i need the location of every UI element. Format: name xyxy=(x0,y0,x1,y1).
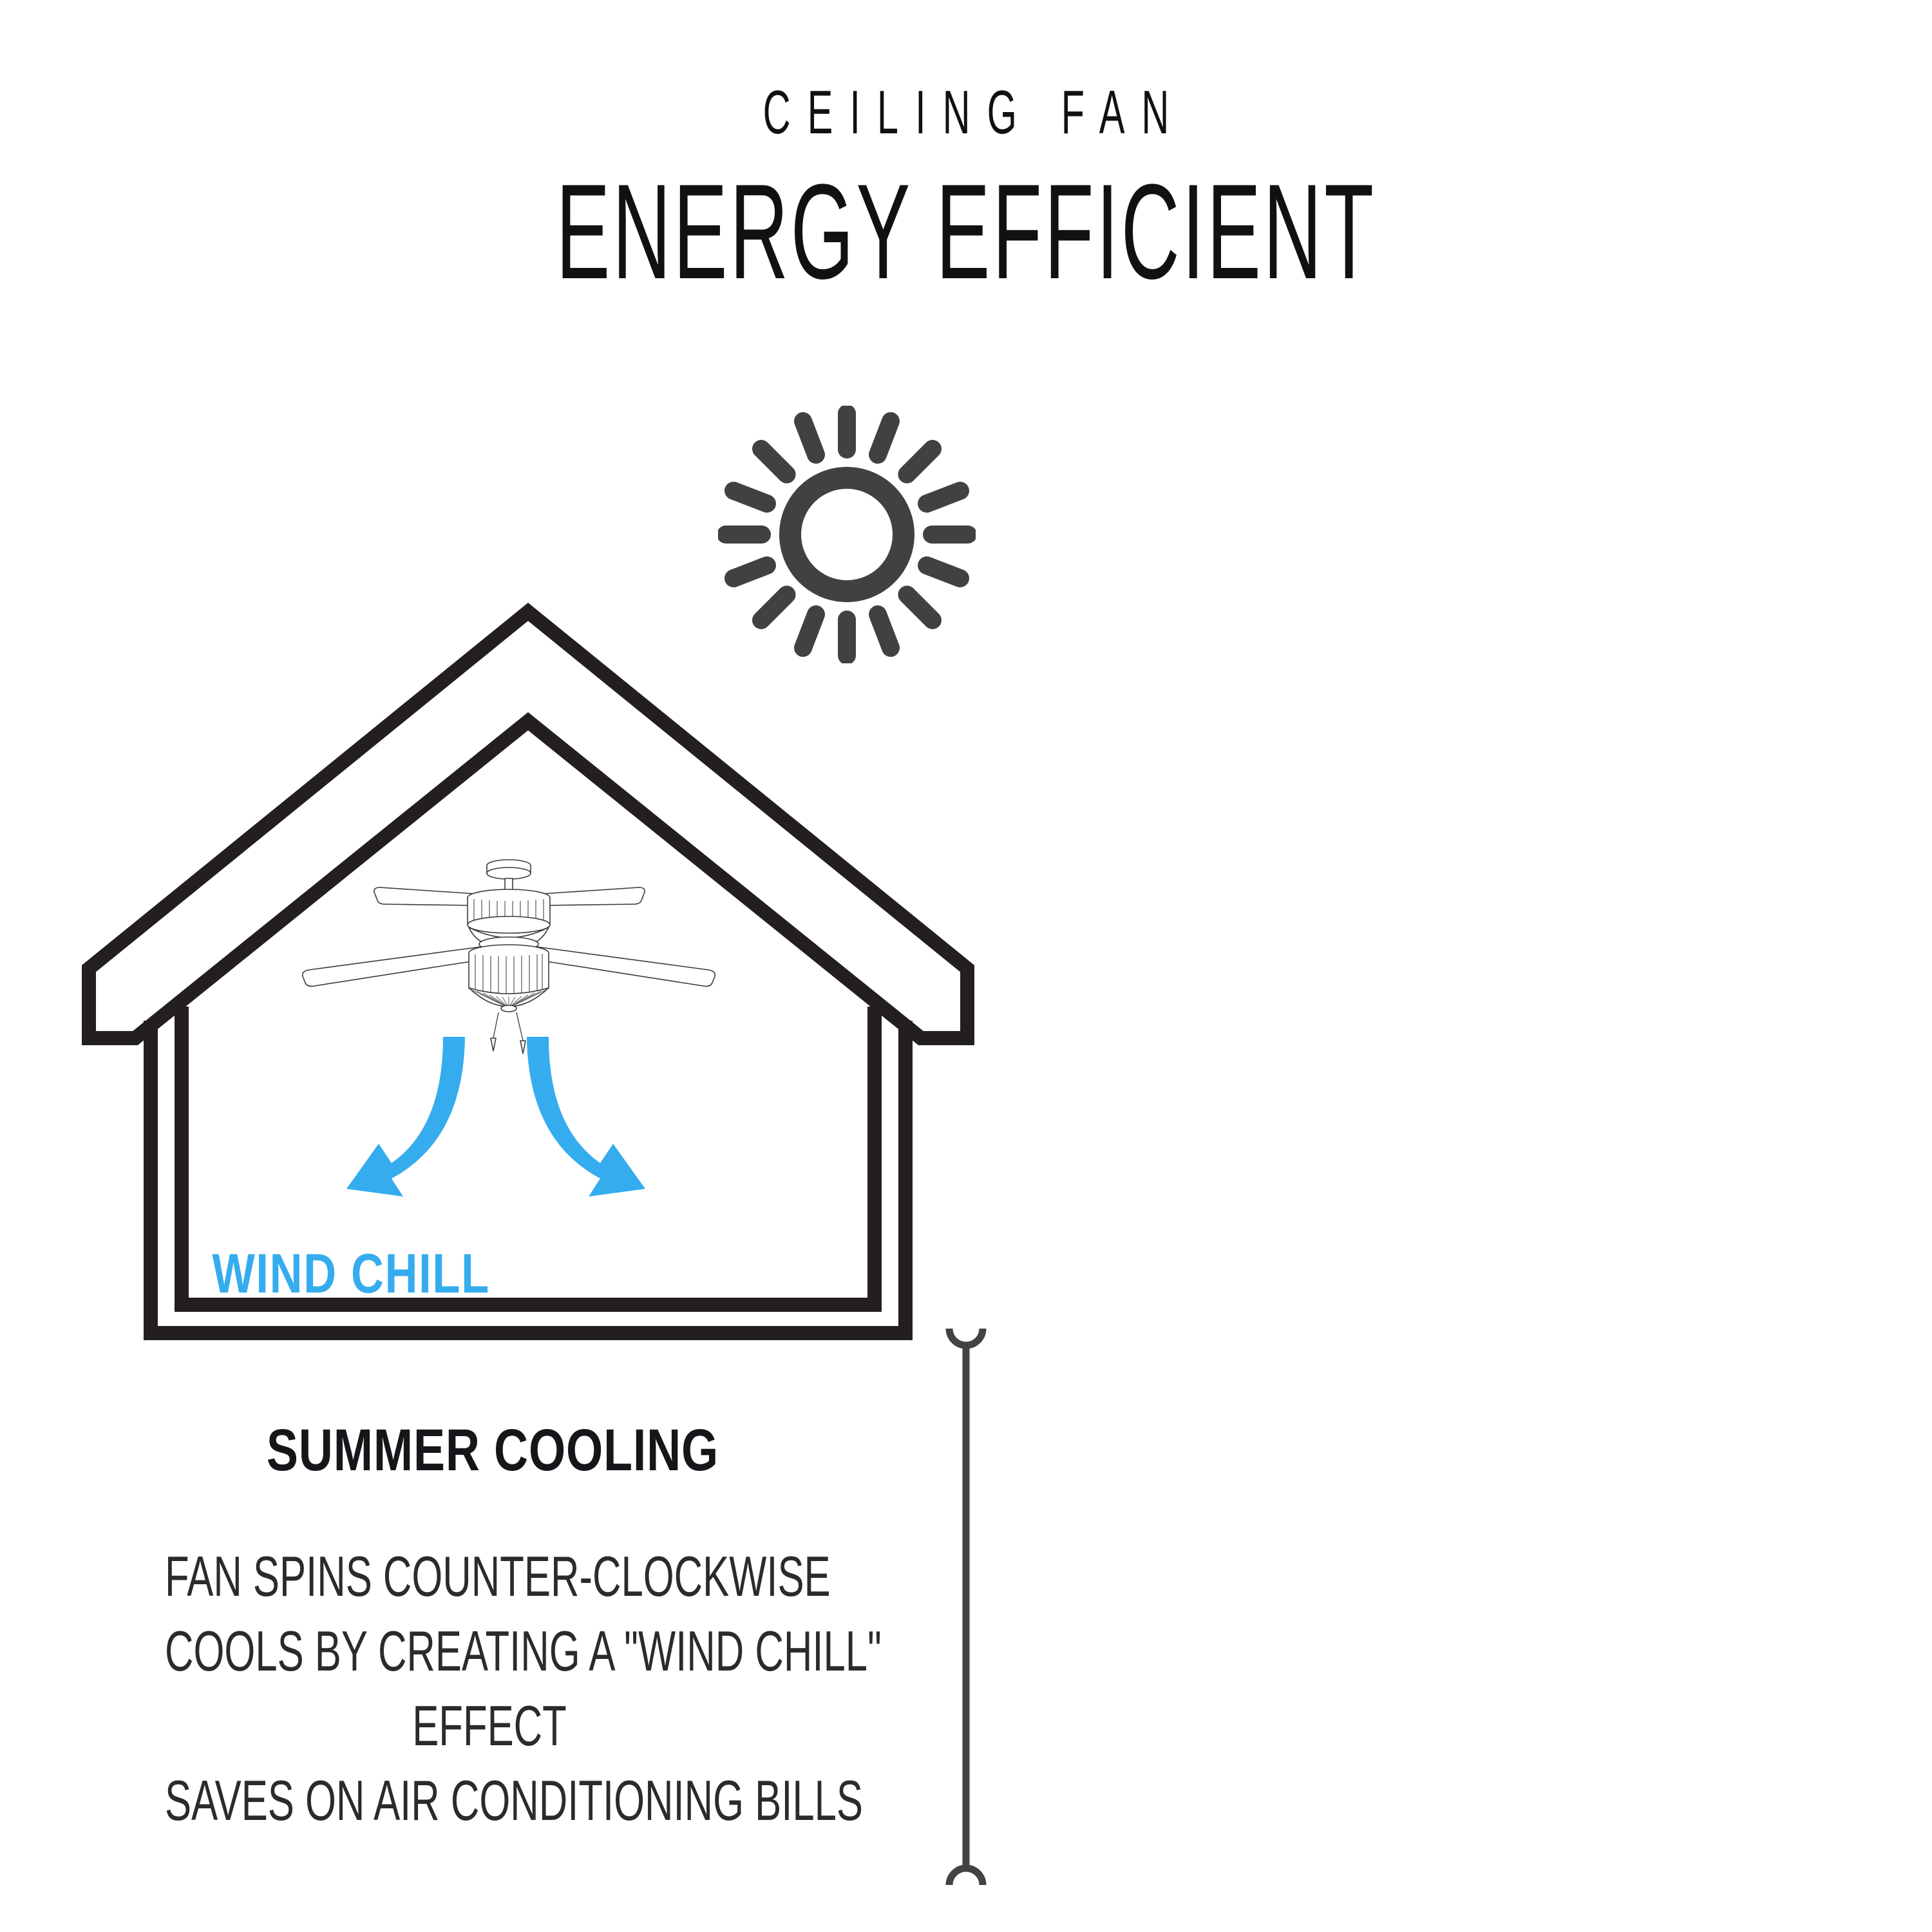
panel-winter: RECIRCULATES HEAT FORCING AIR DOWN WINTE… xyxy=(966,0,1932,1932)
section-body-summer: FAN SPINS COUNTER-CLOCKWISE COOLS BY CRE… xyxy=(165,1539,814,1839)
curved-arrow-right-icon xyxy=(527,1037,645,1197)
infographic-root: CEILING FAN ENERGY EFFICIENT xyxy=(0,0,1932,1932)
summer-callout-line-1: WIND CHILL xyxy=(212,1243,490,1305)
summer-airflow-arrows xyxy=(270,1030,721,1262)
summer-body-line-4: SAVES ON AIR CONDITIONING BILLS xyxy=(165,1763,814,1838)
panel-summer: WIND CHILL SUMMER COOLING FAN SPINS COUN… xyxy=(0,0,966,1932)
summer-body-line-2: COOLS BY CREATING A "WIND CHILL" xyxy=(165,1614,814,1689)
summer-body-line-3: EFFECT xyxy=(165,1689,814,1763)
vertical-divider-flourish-icon xyxy=(940,1323,992,1890)
curved-arrow-left-icon xyxy=(346,1037,465,1197)
section-title-summer: SUMMER COOLING xyxy=(127,1417,858,1484)
summer-callout: WIND CHILL xyxy=(87,1243,615,1305)
summer-body-line-1: FAN SPINS COUNTER-CLOCKWISE xyxy=(165,1539,814,1614)
